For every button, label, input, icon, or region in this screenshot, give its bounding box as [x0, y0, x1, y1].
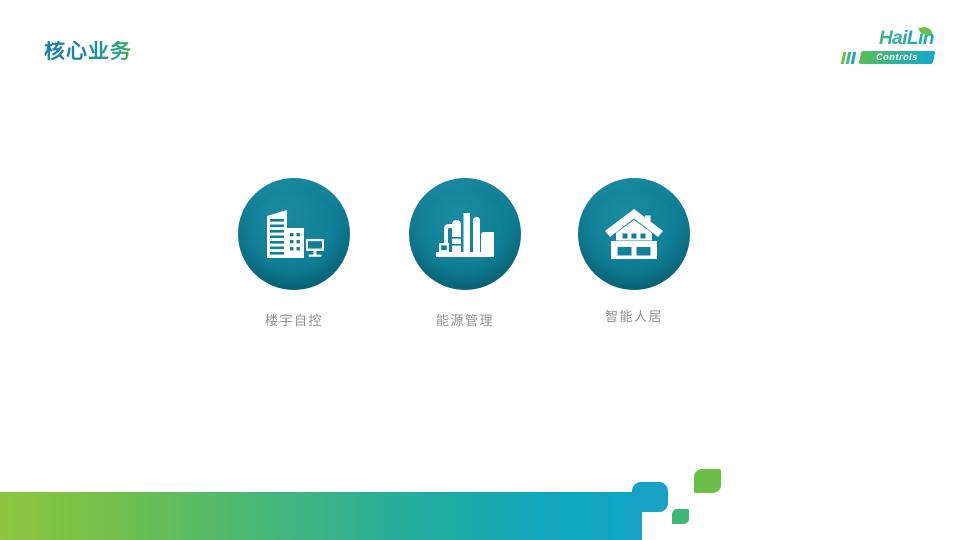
slide-canvas: 核心业务 HaiLin Controls [0, 0, 960, 540]
core-business-card-group: 楼宇自控 [0, 178, 960, 338]
logo-subtitle-plate: Controls [859, 51, 936, 64]
decor-green-block [694, 469, 721, 493]
core-business-card-building-automation[interactable]: 楼宇自控 [224, 178, 364, 327]
brand-logo: HaiLin Controls [836, 28, 934, 68]
core-business-card-smart-living[interactable]: 智能人居 [564, 178, 704, 323]
office-building-monitor-icon [263, 206, 325, 262]
footer-gradient-bar [0, 492, 640, 540]
house-icon [603, 207, 665, 261]
page-title: 核心业务 [44, 41, 132, 62]
icon-circle [238, 178, 350, 290]
icon-circle [578, 178, 690, 290]
card-label: 智能人居 [564, 310, 704, 323]
core-business-card-energy-management[interactable]: 能源管理 [395, 178, 535, 327]
card-label: 能源管理 [395, 314, 535, 327]
decor-green-small-block [672, 509, 689, 524]
logo-bars-icon [842, 51, 855, 64]
decor-teal-block [632, 482, 668, 512]
logo-subtitle: Controls [860, 51, 934, 64]
industrial-plant-icon [435, 207, 495, 261]
card-label: 楼宇自控 [224, 314, 364, 327]
icon-circle [409, 178, 521, 290]
